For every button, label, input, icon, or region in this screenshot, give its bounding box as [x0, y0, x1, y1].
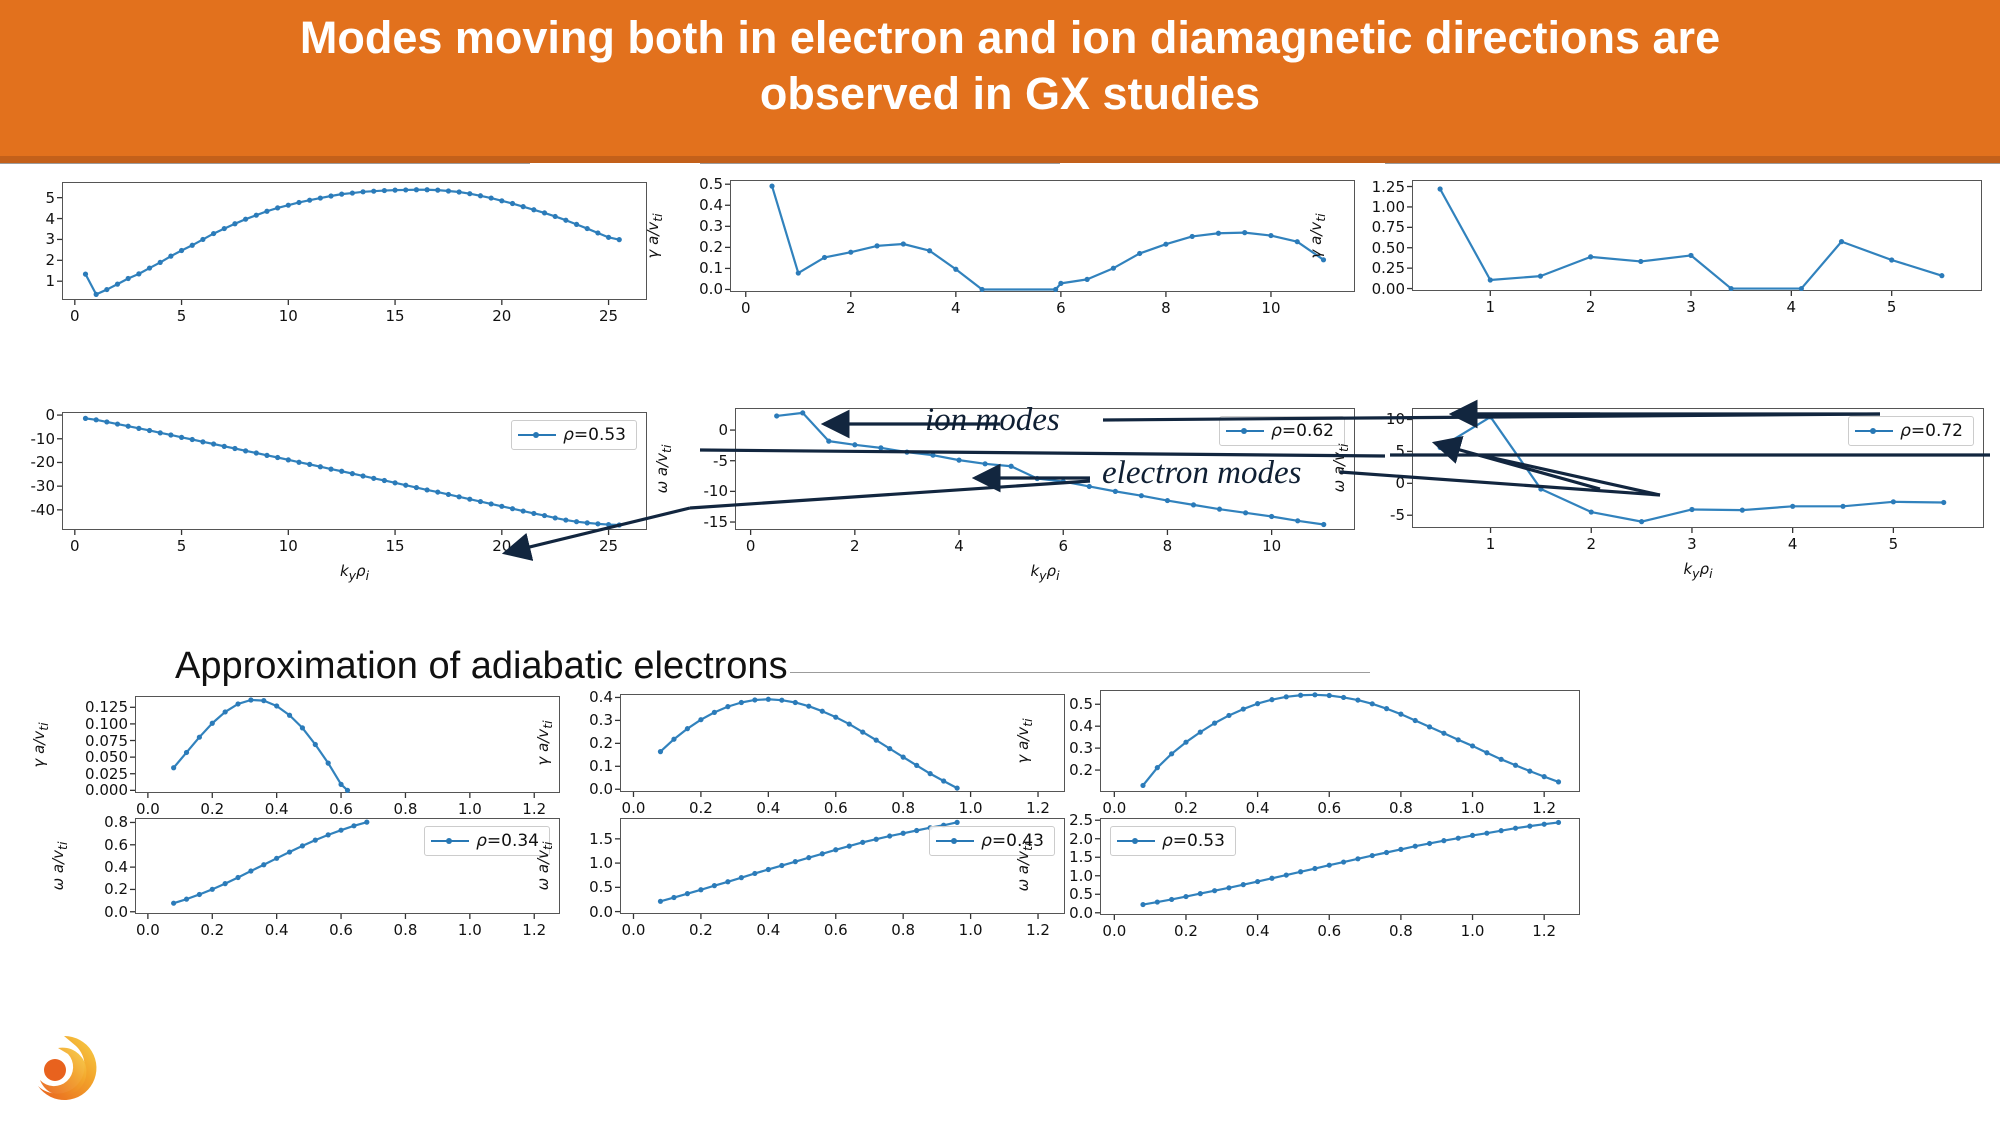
y-tick-label: 0.8 — [73, 813, 128, 831]
legend-swatch — [431, 840, 469, 842]
y-tick-label: 0.4 — [668, 196, 723, 214]
electron-modes-leader-right2 — [1480, 455, 1660, 495]
x-tick-label: 2 — [850, 537, 860, 555]
legend-adiabatic-freq-rho-034[interactable]: ρ=0.34 — [424, 826, 550, 856]
y-tick-label: 0.025 — [73, 765, 128, 783]
x-tick-label: 20 — [492, 537, 511, 555]
x-tick-label: 10 — [279, 307, 298, 325]
x-tick-label: 4 — [1787, 298, 1797, 316]
y-tick-label: 0.3 — [1038, 739, 1093, 757]
x-tick-label: 15 — [386, 307, 405, 325]
x-tick-label: 3 — [1687, 535, 1697, 553]
plot-panel-adiabatic-freq-rho-034: 0.00.20.40.60.81.01.20.00.20.40.60.8ω a/… — [0, 0, 2000, 1125]
y-tick-label: 0.5 — [668, 175, 723, 193]
y-axis-label: γ a/vti — [644, 213, 665, 258]
y-tick-label: -10 — [0, 430, 55, 448]
plot-frame — [620, 694, 1065, 792]
y-tick-label: 0 — [1350, 474, 1405, 492]
x-tick-label: 5 — [1887, 298, 1897, 316]
plot-series-freq-rho-062 — [0, 0, 2000, 1125]
y-tick-label: 4 — [0, 210, 55, 228]
note-separator — [790, 672, 1370, 673]
plot-series-freq-rho-072 — [0, 0, 2000, 1125]
y-tick-label: 0.5 — [1038, 885, 1093, 903]
plot-panel-freq-rho-062: 02468100-5-10-15ω a/vtikyρiρ=0.62 — [0, 0, 2000, 1125]
legend-freq-rho-072[interactable]: ρ=0.72 — [1848, 416, 1974, 446]
x-tick-label: 1.2 — [1532, 799, 1556, 817]
plot-panel-adiabatic-freq-rho-043: 0.00.20.40.60.81.01.20.00.51.01.5ω a/vti… — [0, 0, 2000, 1125]
plot-series-adiabatic-freq-rho-043 — [0, 0, 2000, 1125]
y-axis-label: γ a/vti — [30, 722, 51, 767]
y-tick-label: 0 — [0, 406, 55, 424]
y-tick-label: -15 — [673, 513, 728, 531]
plot-series-freq-rho-053 — [0, 0, 2000, 1125]
plot-panel-growth-rho-053: 051015202512345γ a/vti — [0, 0, 2000, 1125]
plot-frame — [1412, 180, 1982, 291]
x-tick-label: 0.2 — [689, 799, 713, 817]
x-tick-label: 1 — [1485, 298, 1495, 316]
y-tick-label: 0.3 — [558, 711, 613, 729]
ion-modes-label: ion modes — [925, 402, 1060, 439]
x-axis-label: kyρi — [1683, 560, 1712, 581]
adiabatic-note: Approximation of adiabatic electrons — [175, 645, 788, 688]
y-tick-label: -40 — [0, 501, 55, 519]
y-tick-label: 0.0 — [558, 903, 613, 921]
y-tick-label: 1.0 — [1038, 867, 1093, 885]
y-axis-label: ω a/vti — [49, 842, 70, 891]
x-tick-label: 0.4 — [756, 799, 780, 817]
x-tick-label: 5 — [177, 537, 187, 555]
y-tick-label: 0.5 — [1038, 695, 1093, 713]
x-tick-label: 0.6 — [329, 800, 353, 818]
y-axis-label: γ a/vti — [0, 218, 1, 263]
y-tick-label: 0.2 — [668, 238, 723, 256]
x-tick-label: 0 — [70, 537, 80, 555]
plot-panel-freq-rho-053: 05101520250-10-20-30-40ω a/vtikyρiρ=0.53 — [0, 0, 2000, 1125]
x-tick-label: 4 — [951, 299, 961, 317]
x-axis-label: kyρi — [1030, 562, 1059, 583]
y-tick-label: 0.100 — [73, 715, 128, 733]
x-tick-label: 0.8 — [1389, 922, 1413, 940]
y-tick-label: 0 — [673, 421, 728, 439]
x-tick-label: 2 — [1586, 298, 1596, 316]
legend-label: ρ=0.34 — [476, 831, 539, 851]
y-axis-label: γ a/vti — [1014, 718, 1035, 763]
electron-modes-arrow-right — [1435, 443, 1600, 489]
header-separator-right — [1385, 163, 2000, 164]
x-tick-label: 0.6 — [1317, 799, 1341, 817]
y-tick-label: 0.2 — [73, 880, 128, 898]
x-tick-label: 1.2 — [522, 921, 546, 939]
legend-label: ρ=0.53 — [1162, 831, 1225, 851]
electron-modes-arrow-left — [505, 508, 690, 553]
x-tick-label: 0.0 — [622, 799, 646, 817]
x-tick-label: 0.2 — [200, 921, 224, 939]
x-tick-label: 0.4 — [756, 921, 780, 939]
x-tick-label: 1.0 — [959, 799, 983, 817]
x-tick-label: 0.0 — [136, 800, 160, 818]
legend-swatch — [1117, 840, 1155, 842]
header-separator-mid — [700, 163, 1060, 164]
x-tick-label: 10 — [1262, 537, 1281, 555]
x-tick-label: 1.0 — [1461, 922, 1485, 940]
y-tick-label: 0.125 — [73, 698, 128, 716]
x-tick-label: 0.0 — [622, 921, 646, 939]
x-tick-label: 0.8 — [394, 921, 418, 939]
plot-series-growth-rho-062 — [0, 0, 2000, 1125]
x-tick-label: 2 — [1586, 535, 1596, 553]
plot-panel-freq-rho-072: 123451050-5ω a/vtikyρiρ=0.72 — [0, 0, 2000, 1125]
x-tick-label: 0.6 — [824, 921, 848, 939]
header-separator-left — [0, 163, 530, 164]
y-tick-label: 0.075 — [73, 732, 128, 750]
x-tick-label: 10 — [279, 537, 298, 555]
x-tick-label: 1.2 — [1026, 799, 1050, 817]
plot-frame — [62, 182, 647, 300]
x-tick-label: 1 — [1486, 535, 1496, 553]
x-tick-label: 0.8 — [1389, 799, 1413, 817]
legend-swatch — [518, 434, 556, 436]
x-tick-label: 1.2 — [1026, 921, 1050, 939]
plot-series-adiabatic-growth-rho-043 — [0, 0, 2000, 1125]
page-title: Modes moving both in electron and ion di… — [230, 10, 1790, 123]
x-tick-label: 0.8 — [891, 799, 915, 817]
x-tick-label: 2 — [846, 299, 856, 317]
y-tick-label: 0.0 — [1038, 904, 1093, 922]
plot-series-adiabatic-freq-rho-034 — [0, 0, 2000, 1125]
y-tick-label: 5 — [1350, 442, 1405, 460]
y-tick-label: -20 — [0, 453, 55, 471]
y-tick-label: 10 — [1350, 410, 1405, 428]
plot-series-growth-rho-072 — [0, 0, 2000, 1125]
plot-series-growth-rho-053 — [0, 0, 2000, 1125]
x-tick-label: 0.8 — [394, 800, 418, 818]
x-tick-label: 0.4 — [1246, 799, 1270, 817]
x-tick-label: 3 — [1686, 298, 1696, 316]
plot-frame — [135, 696, 560, 793]
y-tick-label: 1.25 — [1350, 178, 1405, 196]
y-tick-label: 0.0 — [668, 280, 723, 298]
plot-panel-adiabatic-growth-rho-034: 0.00.20.40.60.81.01.20.0000.0250.0500.07… — [0, 0, 2000, 1125]
plot-panel-growth-rho-072: 123450.000.250.500.751.001.25γ a/vti — [0, 0, 2000, 1125]
y-axis-label: ω a/vti — [653, 445, 674, 494]
y-tick-label: 0.1 — [558, 757, 613, 775]
y-tick-label: 0.3 — [668, 217, 723, 235]
x-tick-label: 5 — [1889, 535, 1899, 553]
x-tick-label: 10 — [1261, 299, 1280, 317]
legend-swatch — [1855, 430, 1893, 432]
y-tick-label: 0.25 — [1350, 259, 1405, 277]
plot-panel-adiabatic-freq-rho-053: 0.00.20.40.60.81.01.20.00.51.01.52.02.5ω… — [0, 0, 2000, 1125]
plot-frame — [730, 180, 1355, 292]
y-axis-label: ω a/vti — [0, 447, 1, 496]
y-tick-label: 0.50 — [1350, 239, 1405, 257]
y-tick-label: -10 — [673, 482, 728, 500]
legend-label: ρ=0.53 — [563, 425, 626, 445]
x-tick-label: 0.4 — [1246, 922, 1270, 940]
x-tick-label: 0.2 — [1174, 799, 1198, 817]
y-tick-label: 1.5 — [558, 830, 613, 848]
x-tick-label: 8 — [1163, 537, 1173, 555]
legend-label: ρ=0.72 — [1900, 421, 1963, 441]
y-tick-label: 5 — [0, 189, 55, 207]
x-tick-label: 6 — [1056, 299, 1066, 317]
plot-panel-adiabatic-growth-rho-053: 0.00.20.40.60.81.01.20.20.30.40.5γ a/vti — [0, 0, 2000, 1125]
y-tick-label: 0.4 — [73, 858, 128, 876]
x-tick-label: 1.0 — [458, 800, 482, 818]
legend-swatch — [1226, 430, 1264, 432]
x-tick-label: 1.0 — [1461, 799, 1485, 817]
legend-freq-rho-053[interactable]: ρ=0.53 — [511, 420, 637, 450]
annotation-overlay — [0, 0, 2000, 1125]
legend-swatch — [936, 840, 974, 842]
x-tick-label: 0.0 — [1102, 799, 1126, 817]
y-tick-label: 0.4 — [1038, 717, 1093, 735]
electron-modes-label: electron modes — [1102, 455, 1301, 492]
plot-series-adiabatic-growth-rho-053 — [0, 0, 2000, 1125]
legend-adiabatic-freq-rho-053[interactable]: ρ=0.53 — [1110, 826, 1236, 856]
x-tick-label: 0.2 — [200, 800, 224, 818]
y-tick-label: -5 — [1350, 506, 1405, 524]
x-tick-label: 20 — [492, 307, 511, 325]
legend-label: ρ=0.62 — [1271, 421, 1334, 441]
legend-adiabatic-freq-rho-043[interactable]: ρ=0.43 — [929, 826, 1055, 856]
plot-series-adiabatic-freq-rho-053 — [0, 0, 2000, 1125]
plot-frame — [1100, 690, 1580, 792]
x-tick-label: 0 — [741, 299, 751, 317]
x-tick-label: 0.6 — [824, 799, 848, 817]
y-tick-label: 3 — [0, 230, 55, 248]
legend-label: ρ=0.43 — [981, 831, 1044, 851]
y-tick-label: 2 — [0, 251, 55, 269]
x-tick-label: 1.0 — [458, 921, 482, 939]
x-tick-label: 1.2 — [1532, 922, 1556, 940]
plot-panel-growth-rho-062: 02468100.00.10.20.30.40.5γ a/vti — [0, 0, 2000, 1125]
x-tick-label: 0.4 — [265, 921, 289, 939]
plot-panel-adiabatic-growth-rho-043: 0.00.20.40.60.81.01.20.00.10.20.30.4γ a/… — [0, 0, 2000, 1125]
banner-accent-strip — [0, 156, 2000, 163]
y-axis-label: ω a/vti — [1330, 444, 1351, 493]
electron-modes-leader — [690, 481, 1090, 508]
x-tick-label: 4 — [954, 537, 964, 555]
x-tick-label: 0.2 — [1174, 922, 1198, 940]
y-tick-label: 0.75 — [1350, 218, 1405, 236]
x-tick-label: 15 — [386, 537, 405, 555]
legend-freq-rho-062[interactable]: ρ=0.62 — [1219, 416, 1345, 446]
electron-modes-leader-right — [1340, 472, 1660, 495]
y-axis-label: γ a/vti — [1307, 213, 1328, 258]
y-tick-label: 0.050 — [73, 748, 128, 766]
x-tick-label: 25 — [599, 307, 618, 325]
y-tick-label: 1.0 — [558, 854, 613, 872]
y-tick-label: 0.2 — [558, 734, 613, 752]
y-tick-label: -30 — [0, 477, 55, 495]
y-axis-label: γ a/vti — [534, 720, 555, 765]
y-tick-label: 0.00 — [1350, 280, 1405, 298]
y-tick-label: 0.2 — [1038, 761, 1093, 779]
x-tick-label: 5 — [177, 307, 187, 325]
x-tick-label: 0 — [746, 537, 756, 555]
x-tick-label: 8 — [1161, 299, 1171, 317]
x-tick-label: 0 — [70, 307, 80, 325]
plot-series-adiabatic-growth-rho-034 — [0, 0, 2000, 1125]
y-tick-label: 0.4 — [558, 688, 613, 706]
x-tick-label: 0.8 — [891, 921, 915, 939]
y-tick-label: -5 — [673, 452, 728, 470]
y-tick-label: 0.0 — [73, 903, 128, 921]
x-tick-label: 0.0 — [136, 921, 160, 939]
x-tick-label: 1.0 — [959, 921, 983, 939]
x-tick-label: 0.0 — [1102, 922, 1126, 940]
x-tick-label: 1.2 — [522, 800, 546, 818]
x-tick-label: 0.6 — [329, 921, 353, 939]
x-axis-label: kyρi — [340, 562, 369, 583]
x-tick-label: 4 — [1788, 535, 1798, 553]
x-tick-label: 0.6 — [1317, 922, 1341, 940]
y-tick-label: 0.1 — [668, 259, 723, 277]
y-tick-label: 1.00 — [1350, 198, 1405, 216]
x-tick-label: 0.4 — [265, 800, 289, 818]
x-tick-label: 25 — [599, 537, 618, 555]
swirl-logo — [26, 1030, 102, 1106]
y-tick-label: 0.5 — [558, 878, 613, 896]
x-tick-label: 0.2 — [689, 921, 713, 939]
y-tick-label: 0.6 — [73, 836, 128, 854]
y-tick-label: 0.0 — [558, 780, 613, 798]
y-tick-label: 0.000 — [73, 781, 128, 799]
y-tick-label: 1 — [0, 272, 55, 290]
x-tick-label: 6 — [1058, 537, 1068, 555]
